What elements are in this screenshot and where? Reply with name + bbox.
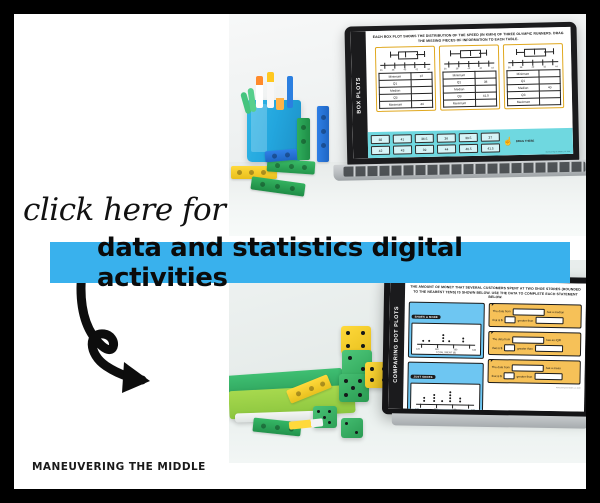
slide-credit: Maneuvering the Middle LLC 2020 — [487, 387, 580, 390]
drag-tile-tray: 38 42 41 43 36.5 39 — [368, 128, 573, 158]
dot-plot-layout: SHOES & MORE — [407, 301, 582, 411]
tile-column: 39.5 40.5 — [459, 133, 478, 153]
dot-plot-axis-title: TOTAL SPENT ($) — [411, 411, 479, 412]
tick-label: 40 — [467, 67, 470, 70]
answer-blank[interactable] — [504, 373, 515, 380]
snap-cube-blue-stack — [317, 106, 329, 162]
die-green-small-right — [341, 418, 363, 438]
tick-label: 36 — [508, 66, 511, 69]
dot-plot-axis-ticks: 120 140 160 180 — [415, 408, 475, 411]
dot-plot-graph: 120 140 160 180 TOTAL SPENT ($) — [410, 382, 481, 411]
side-tab-label: COMPARING DOT PLOTS — [393, 306, 400, 383]
statement-line-a: The data from has an IQR — [492, 336, 577, 344]
tick-label: 38 — [456, 67, 459, 70]
statement-text: The data from — [493, 309, 511, 313]
laptop-top: BOX PLOTS EACH BOX PLOT SHOWS THE DISTRI… — [344, 21, 586, 176]
answer-blank[interactable] — [505, 317, 516, 324]
corner-flag-icon — [492, 303, 495, 306]
answer-blank[interactable] — [535, 345, 563, 352]
tick-label: 42 — [479, 67, 482, 70]
marker-yellow — [267, 72, 274, 108]
dot-plot-card: JUST SHOES — [407, 361, 484, 411]
drag-these-label: DRAG THESE — [516, 140, 534, 144]
statement-text: that is $ — [492, 374, 502, 378]
slide-instructions: EACH BOX PLOT SHOWS THE DISTRIBUTION OF … — [370, 31, 567, 44]
statement-text: has an IQR — [546, 338, 561, 342]
scissors — [276, 86, 284, 110]
drag-tile[interactable]: 38 — [371, 135, 390, 144]
tick-label: 44 — [427, 68, 430, 71]
box-plot-graph: 36 38 40 42 44 — [377, 49, 431, 72]
tick-label: 38 — [520, 66, 523, 69]
laptop-screen-box-plots: BOX PLOTS EACH BOX PLOT SHOWS THE DISTRI… — [351, 27, 574, 159]
statement-card: The data from has a median that is $ — [488, 303, 581, 329]
answer-blank[interactable] — [534, 373, 562, 380]
drag-tile[interactable]: 39 — [415, 145, 434, 154]
answer-blank[interactable] — [512, 336, 544, 344]
answer-blank[interactable] — [535, 317, 563, 324]
tick-label: 42 — [415, 68, 418, 71]
tick-label: 38 — [392, 69, 395, 72]
row-label: Maximum — [443, 100, 476, 108]
box-plot-card-row: 36 38 40 42 44 Mi — [370, 43, 568, 112]
tick-label: 40 — [404, 69, 407, 72]
table-row: Maximum44 — [379, 101, 432, 109]
tick-label: 36 — [444, 68, 447, 71]
dot-plot-card: SHOES & MORE — [408, 301, 485, 358]
statement-text: greater than — [517, 346, 533, 350]
hand-pointer-icon: ☝ — [503, 138, 513, 146]
poster-frame: BOX PLOTS EACH BOX PLOT SHOWS THE DISTRI… — [0, 0, 600, 503]
five-number-summary-table: Minimum Q1 Median40 Q3 Maximum — [506, 69, 561, 106]
statement-line-b: that is $ greater than — [492, 344, 577, 352]
cta-banner[interactable]: data and statistics digital activities — [50, 242, 570, 283]
brand-footer: MANEUVERING THE MIDDLE — [32, 461, 206, 473]
slide-credit: Maneuvering the Middle LLC 2020 — [546, 152, 570, 154]
box-plot-card: 36 38 40 42 44 Mi — [438, 45, 499, 111]
statement-text: that is $ — [492, 346, 502, 350]
statement-text: greater than — [517, 374, 533, 378]
drag-tile[interactable]: 36.5 — [415, 134, 434, 143]
laptop-lid: BOX PLOTS EACH BOX PLOT SHOWS THE DISTRI… — [344, 22, 579, 167]
snap-cube-green-stack — [297, 118, 310, 160]
dot-plot-graph: 120 140 160 180 TOTAL SPENT ($) — [411, 322, 482, 355]
statement-line-a: The data from has a mean — [492, 364, 577, 372]
tick-label: 42 — [543, 66, 546, 69]
drag-tile[interactable]: 40.5 — [459, 144, 478, 153]
tick-label: 44 — [555, 65, 558, 68]
drag-tile[interactable]: 39.5 — [459, 133, 478, 142]
box-plot-graph: 36 38 40 42 44 — [441, 48, 495, 71]
statement-line-b: that is $ greater than — [492, 372, 577, 380]
table-row: Maximum — [507, 98, 560, 106]
drag-tile[interactable]: 43 — [393, 145, 412, 154]
drag-tile[interactable]: 44 — [437, 144, 456, 153]
corner-flag-icon — [491, 331, 494, 334]
box-plot-card: 36 38 40 42 44 Mi — [502, 43, 563, 109]
photo-box-plots-workspace: BOX PLOTS EACH BOX PLOT SHOWS THE DISTRI… — [229, 14, 586, 236]
tick-label: 40 — [531, 66, 534, 69]
laptop-lid: COMPARING DOT PLOTS THE AMOUNT OF MONEY … — [382, 274, 586, 418]
row-value[interactable] — [540, 98, 560, 105]
slide-body: THE AMOUNT OF MONEY THAT SEVERAL CUSTOME… — [403, 280, 586, 411]
answer-blank[interactable] — [513, 308, 545, 316]
marker-blue — [287, 76, 293, 108]
row-label: Maximum — [379, 101, 412, 109]
statement-card: The data from has a mean that is $ — [487, 359, 580, 385]
tile-column: 41 43 — [393, 134, 412, 154]
statement-line-a: The data from has a median — [493, 308, 578, 316]
tile-column: 36.5 39 — [415, 134, 434, 154]
drag-tile[interactable]: 41 — [393, 134, 412, 143]
dot-plot-title: JUST SHOES — [411, 375, 436, 380]
answer-blank[interactable] — [512, 364, 544, 372]
statement-line-b: that is $ greater than — [493, 316, 578, 324]
statement-column: The data from has a median that is $ — [487, 303, 582, 412]
tile-column: 37 41.5 — [481, 132, 500, 152]
marker-orange — [256, 76, 263, 108]
statement-text: greater than — [518, 318, 534, 322]
statement-text: has a mean — [546, 366, 561, 370]
tick-label: 36 — [380, 69, 383, 72]
dot-plot-axis-title: TOTAL SPENT ($) — [412, 351, 480, 355]
laptop-keyboard — [343, 162, 585, 177]
side-tab-label: BOX PLOTS — [356, 76, 363, 113]
box-plot-graph: 36 38 40 42 44 — [505, 46, 559, 69]
tick-label: 180 — [471, 409, 475, 411]
drag-tile[interactable]: 41.5 — [481, 143, 500, 152]
row-label: Maximum — [507, 98, 540, 106]
cta-script-headline: click here for — [23, 192, 225, 228]
drag-tile[interactable]: 37 — [481, 132, 500, 141]
statement-text: The data from — [492, 365, 510, 369]
statement-text: has a median — [547, 310, 564, 314]
dot-plot-title: SHOES & MORE — [412, 315, 441, 320]
tile-column: 38 42 — [371, 135, 390, 155]
poster-canvas: BOX PLOTS EACH BOX PLOT SHOWS THE DISTRI… — [14, 14, 586, 489]
statement-text: The data from — [492, 337, 510, 341]
dot-plot-column: SHOES & MORE — [407, 301, 485, 411]
tick-label: 160 — [452, 409, 456, 411]
cta-banner-text: data and statistics digital activities — [97, 233, 570, 293]
laptop-bottom: COMPARING DOT PLOTS THE AMOUNT OF MONEY … — [382, 274, 586, 430]
slide-box-plots: BOX PLOTS EACH BOX PLOT SHOWS THE DISTRI… — [351, 27, 574, 159]
laptop-base — [392, 413, 586, 428]
corner-flag-icon — [491, 359, 494, 362]
tick-label: 120 — [415, 408, 419, 410]
tick-label: 44 — [491, 67, 494, 70]
row-value[interactable] — [476, 99, 496, 106]
table-row: Maximum — [443, 99, 496, 107]
statement-text: that is $ — [493, 318, 503, 322]
statement-card: The data from has an IQR that is $ — [488, 331, 581, 357]
laptop-screen-dot-plots: COMPARING DOT PLOTS THE AMOUNT OF MONEY … — [388, 280, 586, 411]
answer-blank[interactable] — [504, 345, 515, 352]
five-number-summary-table: Minimum37 Q1 Median Q3 Maximum44 — [378, 72, 433, 109]
five-number-summary-table: Minimum Q138 Median Q341.5 Maximum — [442, 71, 497, 108]
drag-tile[interactable]: 42 — [371, 146, 390, 155]
drag-tile[interactable]: 36 — [437, 133, 456, 142]
tick-label: 140 — [434, 409, 438, 411]
row-value[interactable]: 44 — [412, 101, 432, 108]
slide-comparing-dot-plots: COMPARING DOT PLOTS THE AMOUNT OF MONEY … — [388, 280, 586, 411]
tile-column: 36 44 — [437, 133, 456, 153]
box-plot-card: 36 38 40 42 44 Mi — [374, 46, 435, 112]
